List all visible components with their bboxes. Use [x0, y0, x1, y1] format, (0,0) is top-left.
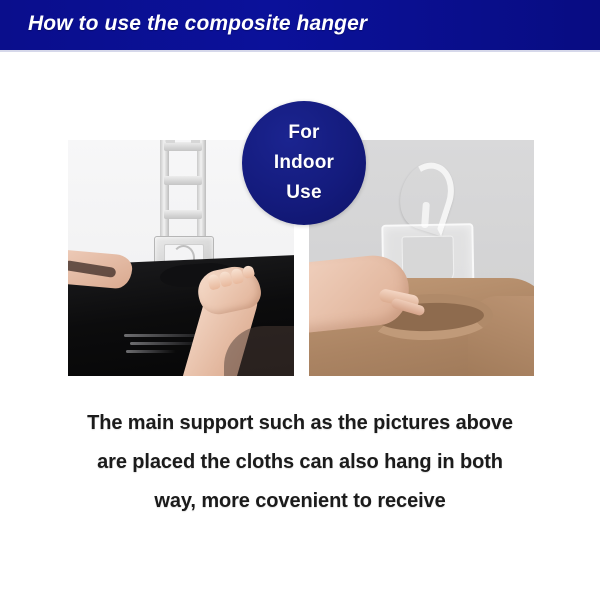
caption-line-2: are placed the cloths can also hang in b…: [0, 443, 600, 482]
caption-block: The main support such as the pictures ab…: [0, 404, 600, 521]
badge-line-3: Use: [286, 178, 321, 208]
header-divider: [0, 50, 600, 52]
caption-line-3: way, more covenient to receive: [0, 482, 600, 521]
page-title: How to use the composite hanger: [28, 12, 367, 36]
caption-line-1: The main support such as the pictures ab…: [0, 404, 600, 443]
for-indoor-use-badge: For Indoor Use: [242, 101, 366, 225]
product-infographic-page: How to use the composite hanger: [0, 0, 600, 600]
badge-line-2: Indoor: [274, 148, 334, 178]
badge-line-1: For: [288, 118, 319, 148]
